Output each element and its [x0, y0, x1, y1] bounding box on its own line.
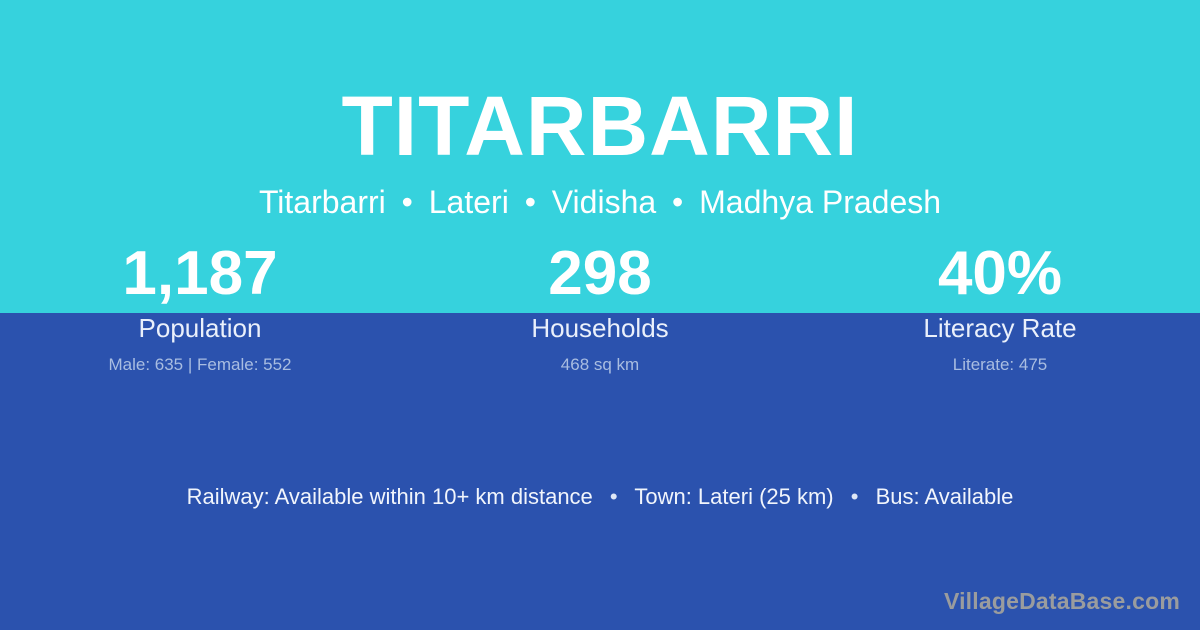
breadcrumb-block: Lateri — [429, 184, 509, 220]
stat-households: 298 Households 468 sq km — [400, 240, 800, 377]
breadcrumb-district: Vidisha — [552, 184, 656, 220]
stat-subtext: Literate: 475 — [800, 353, 1200, 377]
facilities-line: Railway: Available within 10+ km distanc… — [0, 482, 1200, 512]
facility-town: Town: Lateri (25 km) — [634, 484, 833, 509]
facility-bus: Bus: Available — [876, 484, 1014, 509]
breadcrumb-separator: • — [518, 184, 543, 220]
stat-population: 1,187 Population Male: 635 | Female: 552 — [0, 240, 400, 377]
breadcrumb-state: Madhya Pradesh — [699, 184, 941, 220]
stat-label: Literacy Rate — [800, 312, 1200, 344]
breadcrumb-separator: • — [665, 184, 690, 220]
stat-value: 1,187 — [0, 240, 400, 308]
stats-row: 1,187 Population Male: 635 | Female: 552… — [0, 240, 1200, 377]
stat-value: 298 — [400, 240, 800, 308]
breadcrumb-separator: • — [395, 184, 420, 220]
stat-value: 40% — [800, 240, 1200, 308]
breadcrumb-village: Titarbarri — [259, 184, 386, 220]
stat-subtext: 468 sq km — [400, 353, 800, 377]
stat-label: Population — [0, 312, 400, 344]
village-info-card: TITARBARRI Titarbarri • Lateri • Vidisha… — [0, 0, 1200, 630]
stat-literacy-rate: 40% Literacy Rate Literate: 475 — [800, 240, 1200, 377]
card-header: TITARBARRI Titarbarri • Lateri • Vidisha… — [0, 0, 1200, 220]
stat-subtext: Male: 635 | Female: 552 — [0, 353, 400, 377]
stat-label: Households — [400, 312, 800, 344]
site-watermark: VillageDataBase.com — [944, 587, 1180, 615]
facility-railway: Railway: Available within 10+ km distanc… — [187, 484, 593, 509]
facility-separator: • — [599, 484, 629, 509]
breadcrumb: Titarbarri • Lateri • Vidisha • Madhya P… — [0, 170, 1200, 220]
page-title: TITARBARRI — [0, 0, 1200, 170]
facility-separator: • — [840, 484, 870, 509]
